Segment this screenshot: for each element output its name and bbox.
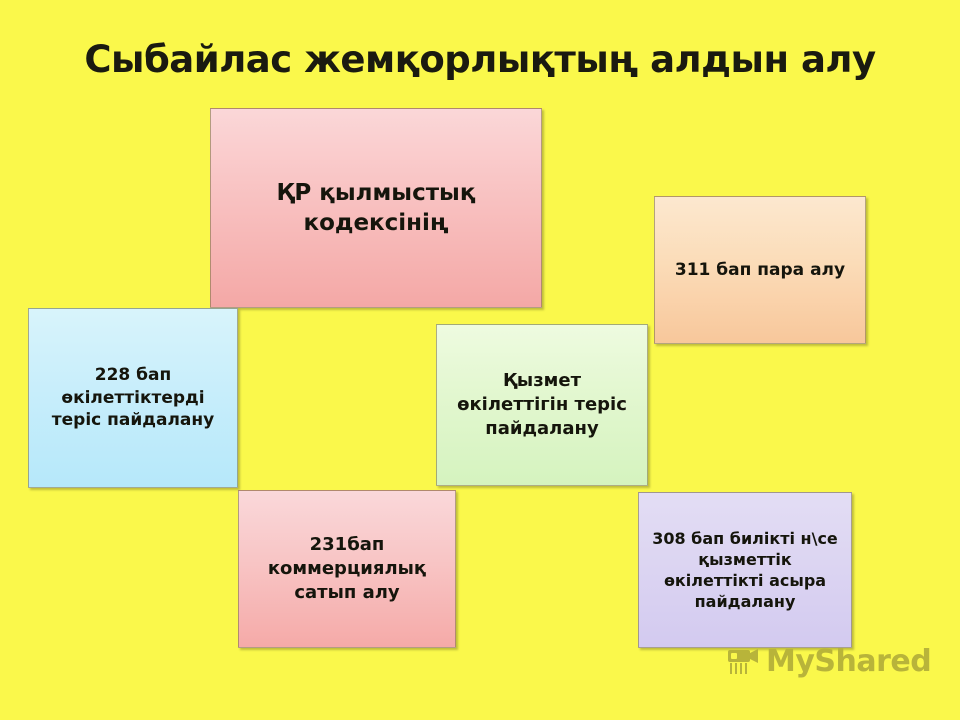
diagram-node-label: 311 бап пара алу [663,259,857,281]
diagram-node-label: Қызмет өкілеттігін теріс пайдалану [445,369,639,440]
presentation-slide: Сыбайлас жемқорлықтың алдын алу ҚР қылмы… [0,0,960,720]
diagram-node-label: 231бап коммерциялық сатып алу [247,533,447,604]
diagram-node-label: 308 бап билікті н\се қызметтік өкілеттік… [647,528,843,612]
page-title: Сыбайлас жемқорлықтың алдын алу [0,38,960,81]
watermark-label: MyShared [766,644,931,679]
diagram-node-article-311: 311 бап пара алу [654,196,866,344]
diagram-node-article-228: 228 бап өкілеттіктерді теріс пайдалану [28,308,238,488]
diagram-node-label: ҚР қылмыстық кодексінің [219,178,533,239]
diagram-node-label: 228 бап өкілеттіктерді теріс пайдалану [37,364,229,431]
diagram-node-criminal-code: ҚР қылмыстық кодексінің [210,108,542,308]
diagram-node-service-authority: Қызмет өкілеттігін теріс пайдалану [436,324,648,486]
diagram-node-article-308: 308 бап билікті н\се қызметтік өкілеттік… [638,492,852,648]
projector-icon [726,647,760,677]
watermark: MyShared [726,644,931,679]
diagram-node-article-231: 231бап коммерциялық сатып алу [238,490,456,648]
